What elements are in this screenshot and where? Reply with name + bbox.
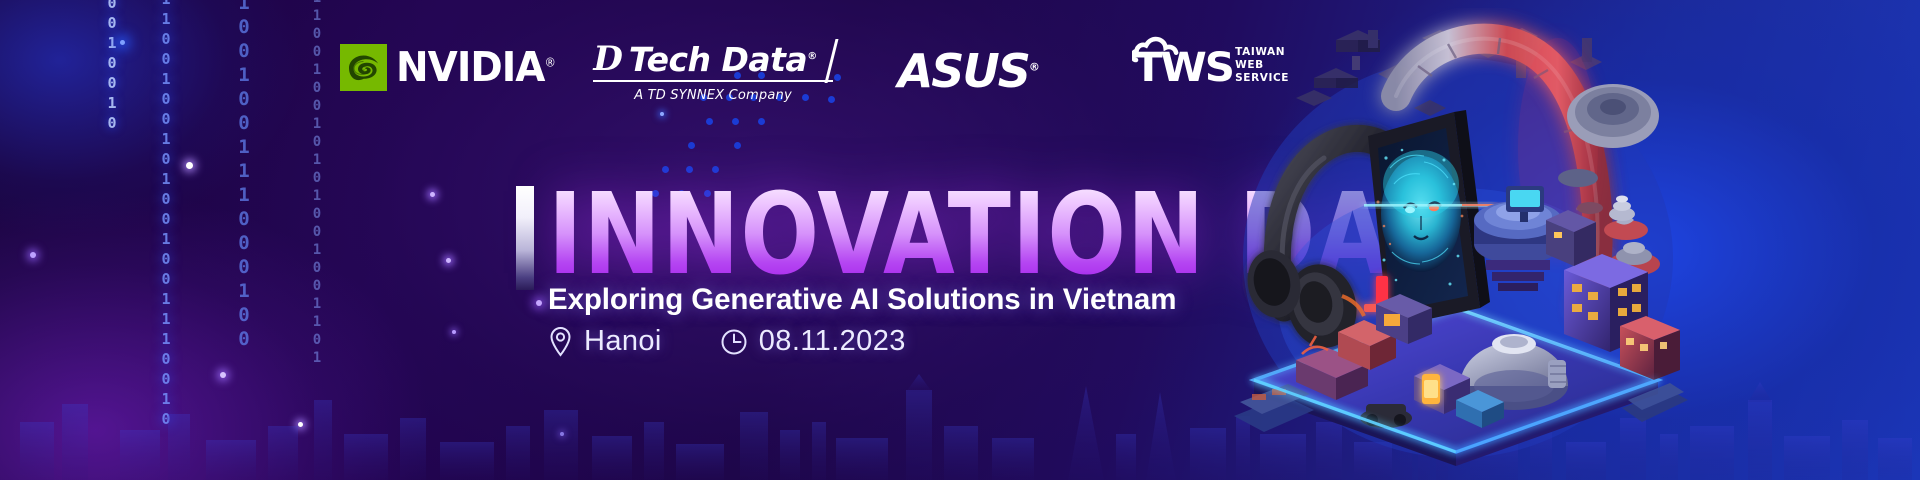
binary-stream: 0010010 <box>104 0 119 134</box>
tech-data-wordmark: Tech Data® <box>629 43 817 76</box>
clock-icon <box>720 328 748 356</box>
tws-wordmark: TWS <box>1134 48 1233 88</box>
logo-asus[interactable]: ASUS® <box>898 48 1038 94</box>
genai-en: EN <box>224 201 325 268</box>
tws-sublines: TAIWAN WEB SERVICE <box>1235 46 1289 88</box>
location-pin-icon <box>548 326 573 357</box>
tech-data-rule <box>593 80 832 82</box>
event-location: Hanoi <box>548 325 662 358</box>
logo-nvidia[interactable]: NVIDIA® <box>340 42 563 92</box>
genai-g: G <box>128 160 216 268</box>
genai-innovation-day-banner: 0010010 1100100101001001110010 100100111… <box>0 0 1920 480</box>
asus-wordmark: ASUS® <box>898 44 1038 98</box>
logo-tws[interactable]: TWS TAIWAN WEB SERVICE <box>1134 46 1289 88</box>
tws-subline: WEB <box>1235 59 1289 72</box>
event-location-label: Hanoi <box>584 325 662 358</box>
nvidia-wordmark: NVIDIA® <box>396 47 555 88</box>
page-subtitle: Exploring Generative AI Solutions in Vie… <box>548 283 1176 317</box>
event-meta-row: Hanoi 08.11.2023 <box>548 325 906 358</box>
genai-logotype: G EN AI <box>128 160 476 268</box>
tws-subline: TAIWAN <box>1235 46 1289 59</box>
tech-data-monogram: D <box>593 42 622 76</box>
event-date: 08.11.2023 <box>720 325 906 358</box>
partner-logo-row: NVIDIA® D Tech Data® A TD SYNNEX Company… <box>340 42 1289 110</box>
genai-ai: AI <box>334 160 456 268</box>
headline-block: G EN AI <box>0 160 1240 300</box>
nvidia-eye-icon <box>340 44 387 91</box>
tws-subline: SERVICE <box>1235 72 1289 85</box>
headline-separator-bar <box>516 186 534 290</box>
event-date-label: 08.11.2023 <box>759 325 906 358</box>
tech-data-slash-accent <box>824 39 838 83</box>
logo-tech-data[interactable]: D Tech Data® A TD SYNNEX Company <box>593 42 832 103</box>
tech-data-tagline: A TD SYNNEX Company <box>593 88 832 103</box>
